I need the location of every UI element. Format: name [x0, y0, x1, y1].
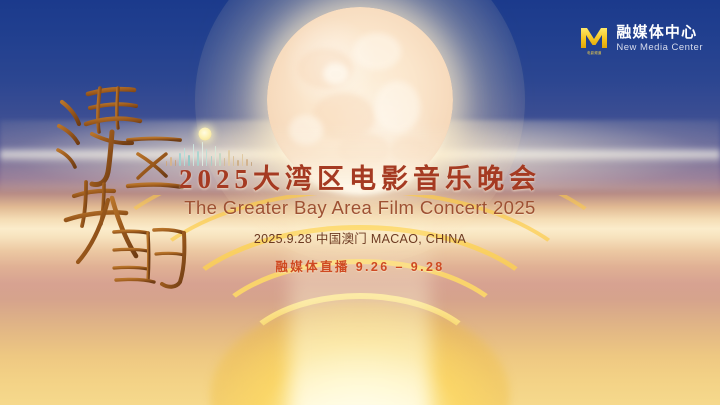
small-moon-icon [199, 128, 212, 141]
title-block: 2025大湾区电影音乐晚会 The Greater Bay Area Film … [0, 164, 720, 275]
logo-text-group: 融媒体中心 New Media Center [616, 25, 703, 53]
logo-name-en: New Media Center [616, 43, 703, 53]
logo-mark-subtext: 电影频道 [587, 50, 601, 55]
audio-waveform-icon [166, 140, 252, 166]
poster-live-broadcast: 融媒体直播 9.26 – 9.28 [0, 256, 720, 275]
poster-title-cn: 2025大湾区电影音乐晚会 [0, 164, 720, 194]
poster-title-en: The Greater Bay Area Film Concert 2025 [0, 197, 720, 219]
new-media-center-logo[interactable]: 电影频道 融媒体中心 New Media Center [579, 24, 703, 54]
poster-canvas: 2025大湾区电影音乐晚会 The Greater Bay Area Film … [0, 0, 720, 405]
poster-date-location: 2025.9.28 中国澳门 MACAO, CHINA [0, 228, 720, 247]
m-monogram-icon: 电影频道 [579, 24, 609, 54]
logo-name-cn: 融媒体中心 [616, 25, 703, 40]
